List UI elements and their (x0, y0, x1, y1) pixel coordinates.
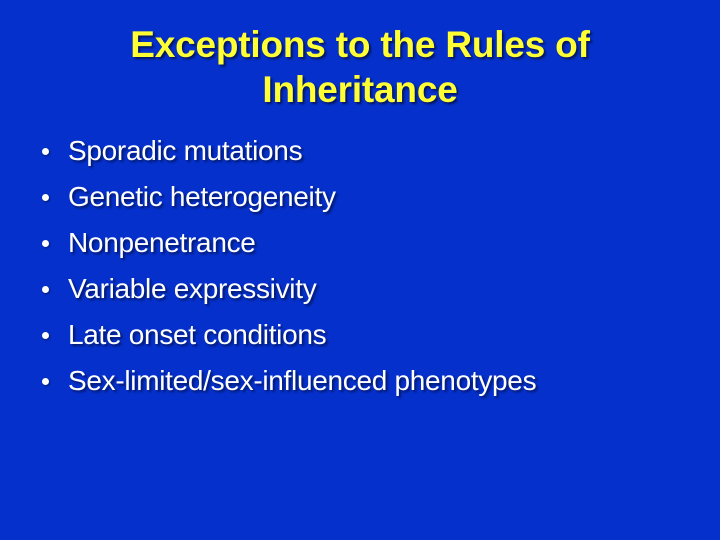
list-item: Late onset conditions (36, 312, 696, 358)
bullet-text: Nonpenetrance (68, 227, 256, 258)
bullet-list: Sporadic mutations Genetic heterogeneity… (36, 128, 696, 404)
bullet-dot-icon (42, 378, 49, 385)
bullet-dot-icon (42, 332, 49, 339)
list-item: Sex-limited/sex-influenced phenotypes (36, 358, 696, 404)
bullet-dot-icon (42, 286, 49, 293)
slide-canvas: Exceptions to the Rules of Inheritance S… (0, 0, 720, 540)
title-line-2: Inheritance (40, 67, 680, 112)
list-item: Nonpenetrance (36, 220, 696, 266)
list-item: Sporadic mutations (36, 128, 696, 174)
list-item: Genetic heterogeneity (36, 174, 696, 220)
bullet-dot-icon (42, 148, 49, 155)
bullet-text: Late onset conditions (68, 319, 326, 350)
slide-title: Exceptions to the Rules of Inheritance (40, 22, 680, 112)
list-item: Variable expressivity (36, 266, 696, 312)
bullet-text: Genetic heterogeneity (68, 181, 336, 212)
bullet-text: Variable expressivity (68, 273, 316, 304)
title-line-1: Exceptions to the Rules of (40, 22, 680, 67)
bullet-dot-icon (42, 240, 49, 247)
bullet-text: Sporadic mutations (68, 135, 302, 166)
bullet-dot-icon (42, 194, 49, 201)
bullet-text: Sex-limited/sex-influenced phenotypes (68, 365, 536, 396)
